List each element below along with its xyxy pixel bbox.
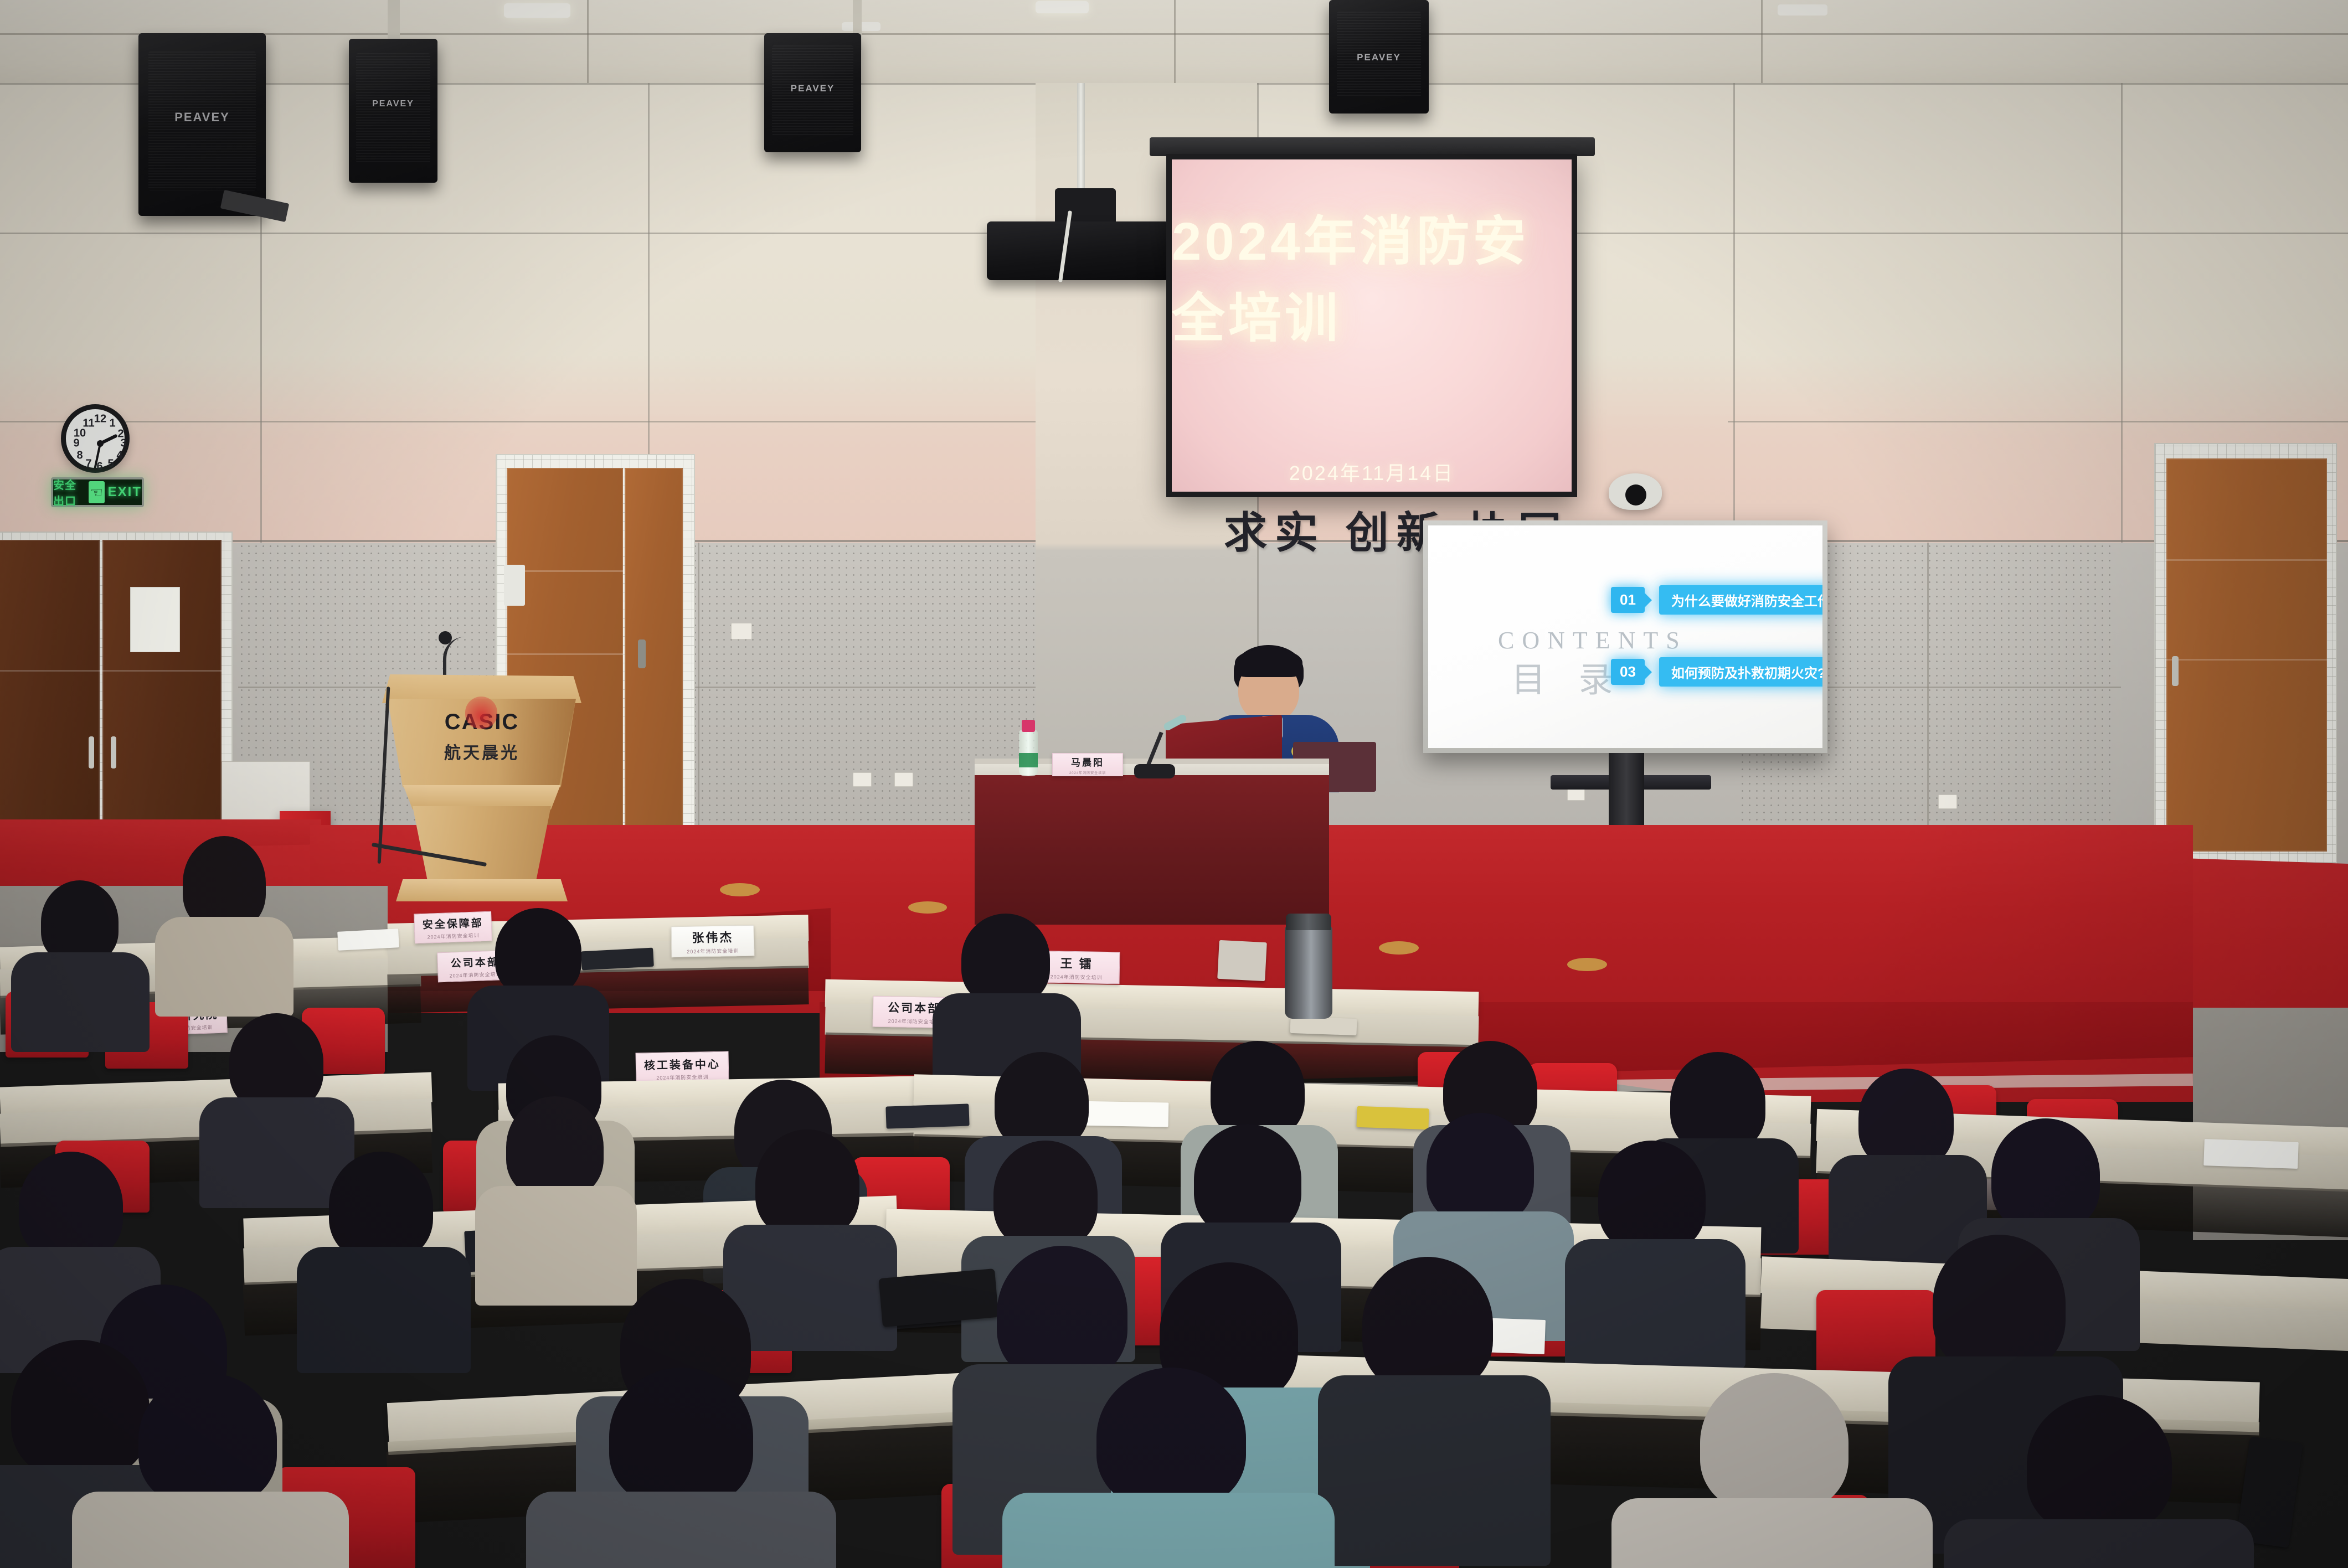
attendee: [166, 836, 293, 1002]
attendee: [1839, 1069, 1977, 1251]
door-groove: [507, 653, 623, 655]
head-table-namecard: 马晨阳 2024年消防安全培训: [1052, 753, 1123, 776]
clock-number: 3: [120, 437, 126, 450]
emergency-exit-sign: 安全出口 ☜ EXIT: [51, 477, 144, 507]
attendee-hair: [229, 1013, 323, 1111]
attendee-hair: [755, 1129, 859, 1238]
bottle-label: [1019, 753, 1038, 767]
slide-date: 2024年11月14日: [1289, 457, 1455, 486]
mobile-tv-display[interactable]: CONTENTS 目 录 01 为什么要做好消防安全工作? 03 如何预防及扑救…: [1423, 520, 1827, 753]
namecard-name: 核工装备中心: [644, 1055, 720, 1072]
attendee-hair: [19, 1152, 123, 1260]
door-handle-middle[interactable]: [638, 639, 646, 668]
clock-number: 6: [96, 461, 102, 473]
attendee-hair: [506, 1096, 604, 1198]
clock-number: 8: [76, 450, 83, 462]
ceiling-light: [1778, 4, 1827, 16]
running-man-icon: ☜: [89, 481, 105, 503]
door-lock-plate: [504, 565, 525, 606]
speaker-brand-label: PEAVEY: [1329, 52, 1429, 63]
toc-number: 03: [1611, 659, 1645, 685]
attendee: [310, 1152, 460, 1351]
paper-sheet: [2203, 1139, 2299, 1169]
namecard-name: 张伟杰: [692, 927, 734, 946]
attendee-body: [526, 1492, 836, 1568]
toc-label: 如何预防及扑救初期火灾?: [1659, 657, 1822, 687]
attendee-body: [11, 952, 150, 1052]
attendee-body: [72, 1492, 349, 1568]
wall-seam: [0, 421, 1041, 422]
attendee-body: [1944, 1519, 2254, 1568]
tv-slide-contents: CONTENTS 目 录 01 为什么要做好消防安全工作? 03 如何预防及扑救…: [1428, 525, 1822, 748]
attendee-body: [155, 917, 293, 1017]
clock-number: 5: [107, 458, 114, 471]
wall-outlet: [731, 623, 752, 639]
projector-mount-pole: [1077, 83, 1085, 194]
bottle-cap: [1022, 720, 1035, 732]
door-groove: [2166, 659, 2327, 661]
attendee-foreground: [554, 1368, 809, 1568]
attendee: [487, 1096, 626, 1285]
attendee-hair: [961, 914, 1050, 1004]
ceiling-light: [504, 3, 570, 18]
attendee-hair: [1991, 1118, 2100, 1231]
door-handle-right[interactable]: [2172, 656, 2179, 686]
door-handle-left[interactable]: [111, 736, 116, 768]
attendee-hair: [1362, 1257, 1493, 1392]
projection-screen-housing: [1150, 137, 1595, 156]
speaker-brand-label: PEAVEY: [138, 110, 266, 125]
wall-seam: [2121, 83, 2123, 543]
podium-band: [403, 785, 560, 809]
attendee-body: [1565, 1239, 1745, 1369]
camera-lens: [1625, 484, 1646, 506]
clock-number: 7: [85, 458, 91, 471]
attendee-body: [1318, 1375, 1551, 1566]
attendee-hair: [329, 1152, 433, 1260]
paper-sheet: [337, 929, 399, 951]
attendee-foreground: [1971, 1395, 2226, 1568]
door-right-leaf[interactable]: [2166, 458, 2327, 852]
door-groove: [2166, 559, 2327, 561]
thermos-flask: [1285, 925, 1332, 1019]
attendee-hair: [1598, 1141, 1706, 1252]
clock-center-pin: [97, 440, 104, 447]
door-handle-left[interactable]: [89, 736, 94, 768]
projected-slide: 2024年消防安全培训 2024年11月14日: [1172, 159, 1572, 492]
door-groove: [0, 670, 222, 672]
attendee-body: [297, 1247, 471, 1373]
projector-mount-bracket: [1055, 188, 1116, 225]
namecard-subtitle: 2024年消防安全培训: [1069, 770, 1106, 775]
podium-pedestal: [413, 806, 551, 889]
ceiling-speaker: PEAVEY: [1329, 0, 1429, 114]
wall-clock: 12 1 2 3 4 5 6 7 8 9 10 11: [61, 404, 130, 473]
attendee-hair: [41, 880, 119, 963]
slide-title: 2024年消防安全培训: [1172, 198, 1572, 352]
notebook: [885, 1103, 969, 1128]
attendee: [22, 880, 144, 1046]
attendee-hair: [183, 836, 266, 930]
desk-namecard: 张伟杰 2024年消防安全培训: [671, 925, 755, 958]
attendee: [1578, 1141, 1733, 1345]
attendee-foreground: [94, 1373, 327, 1568]
speaker-brand-label: PEAVEY: [764, 83, 861, 94]
attendee-body: [1611, 1498, 1933, 1568]
contents-chinese-heading: 目 录: [1511, 652, 1625, 702]
projection-screen: 2024年消防安全培训 2024年11月14日: [1166, 154, 1577, 497]
lecture-hall-photo: PEAVEY PEAVEY PEAVEY PEAVEY 12 1 2 3 4 5…: [0, 0, 2348, 1568]
wall-outlet: [1938, 795, 1957, 809]
ceiling-speaker: PEAVEY: [764, 33, 861, 152]
toc-number: 01: [1611, 587, 1645, 613]
ceiling-light: [1036, 1, 1089, 13]
wall-outlet: [853, 772, 872, 787]
floor-inlay-marker: [720, 883, 760, 896]
head-table-body: [975, 775, 1329, 925]
toc-item-01: 01 为什么要做好消防安全工作?: [1611, 585, 1822, 615]
attendee-hair: [1096, 1368, 1246, 1508]
attendee-body: [1002, 1493, 1335, 1568]
microphone-capsule: [439, 631, 452, 644]
ceiling-speaker: PEAVEY: [138, 33, 266, 216]
floor-inlay-marker: [1567, 958, 1607, 971]
clock-number: 1: [109, 417, 115, 430]
exit-sign-chinese-label: 安全出口: [53, 476, 85, 508]
speaker-brand-label: PEAVEY: [349, 99, 437, 109]
floor-inlay-marker: [908, 901, 947, 914]
contents-english-heading: CONTENTS: [1498, 626, 1687, 654]
notebook: [1217, 940, 1267, 981]
ceiling-projector: [987, 221, 1170, 280]
podium-base: [396, 879, 568, 901]
podium-company-name: 航天晨光: [388, 739, 576, 764]
attendee-hair: [997, 1246, 1127, 1381]
wall-seam: [1728, 421, 2348, 422]
door-notice-sheet: [130, 587, 180, 652]
attendee-hair: [609, 1368, 753, 1506]
clock-number: 4: [116, 450, 122, 462]
floor-inlay-marker: [1379, 941, 1419, 955]
attendee-hair: [1194, 1124, 1301, 1236]
thermos-cap: [1286, 914, 1331, 930]
ptz-camera: [1609, 473, 1662, 510]
attendee-hair: [138, 1373, 277, 1506]
exit-sign-english-label: EXIT: [108, 484, 142, 500]
attendee-hair: [995, 1052, 1089, 1149]
presenter-hair-top: [1235, 648, 1302, 677]
attendee-hair: [1670, 1052, 1765, 1152]
notebook: [1290, 1017, 1357, 1035]
toc-item-03: 03 如何预防及扑救初期火灾?: [1611, 657, 1822, 687]
namecard-subtitle: 2024年消防安全培训: [427, 931, 479, 940]
clock-number: 12: [94, 413, 106, 426]
attendee-hair: [993, 1141, 1098, 1249]
attendee-hair: [1933, 1235, 2066, 1373]
wall-outlet: [894, 772, 913, 787]
attendee-hair: [1858, 1069, 1954, 1168]
namecard-subtitle: 2024年消防安全培训: [687, 947, 739, 955]
clock-number: 11: [83, 417, 94, 430]
casic-logo-mark: [465, 697, 497, 729]
namecard-name: 安全保障部: [422, 915, 483, 932]
attendee-hair: [495, 908, 581, 997]
attendee-foreground: [1030, 1368, 1307, 1568]
toc-label: 为什么要做好消防安全工作?: [1659, 585, 1822, 615]
namecard-name: 马晨阳: [1071, 755, 1104, 768]
table-microphone-base: [1134, 764, 1175, 778]
attendee-hair: [1427, 1113, 1534, 1225]
attendee-hair-gray: [1700, 1373, 1848, 1513]
ceiling-speaker: PEAVEY: [349, 39, 437, 183]
wall-seam: [1733, 83, 1735, 543]
attendee-foreground: [1639, 1373, 1905, 1568]
attendee-hair: [2027, 1395, 2172, 1534]
attendee: [1340, 1257, 1528, 1556]
door-middle-sidelite[interactable]: [625, 468, 683, 833]
